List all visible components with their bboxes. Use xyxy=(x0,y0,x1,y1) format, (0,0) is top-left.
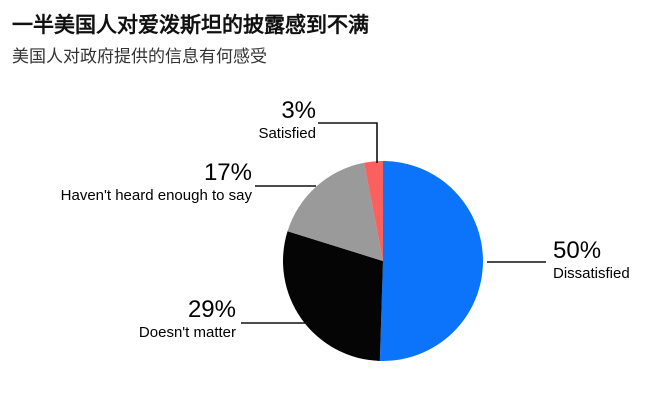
pie-label-havent-heard-value: 17% xyxy=(18,160,252,186)
pie-label-havent-heard-name: Haven't heard enough to say xyxy=(18,188,252,204)
pie-label-havent-heard: 17% Haven't heard enough to say xyxy=(18,160,252,204)
pie-slice-dissatisfied[interactable] xyxy=(380,161,483,361)
pie-label-satisfied-value: 3% xyxy=(96,98,316,124)
pie-label-doesnt-matter-value: 29% xyxy=(0,297,236,323)
pie-label-satisfied: 3% Satisfied xyxy=(96,98,316,142)
pie-label-dissatisfied: 50% Dissatisfied xyxy=(553,238,657,282)
pie-label-dissatisfied-value: 50% xyxy=(553,238,657,264)
leader-line-satisfied xyxy=(318,123,377,163)
chart-page: 一半美国人对爱泼斯坦的披露感到不满 美国人对政府提供的信息有何感受 3% Sat… xyxy=(0,0,660,403)
pie-label-doesnt-matter-name: Doesn't matter xyxy=(0,325,236,341)
pie-label-satisfied-name: Satisfied xyxy=(96,126,316,142)
pie-label-doesnt-matter: 29% Doesn't matter xyxy=(0,297,236,341)
pie-label-dissatisfied-name: Dissatisfied xyxy=(553,266,657,282)
